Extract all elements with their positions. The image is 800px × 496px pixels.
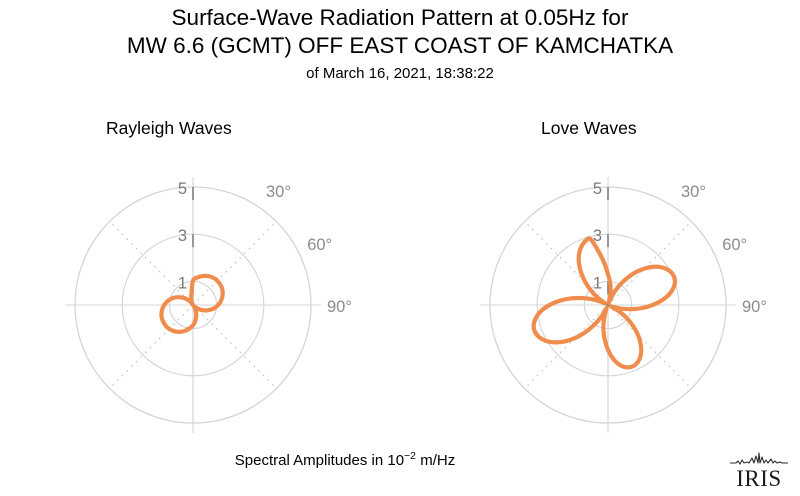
polar-spoke-45deg (608, 222, 691, 305)
theta-label-90deg: 90° (327, 298, 352, 316)
caption-exponent: −2 (404, 450, 416, 462)
theta-label-60deg: 60° (722, 236, 747, 254)
r-tick-label-5: 5 (178, 180, 187, 198)
theta-label-30deg: 30° (681, 183, 706, 201)
radiation-pattern-trace-rayleigh (161, 276, 222, 332)
polar-plot-love: 13530°60°90° (480, 177, 767, 433)
caption-prefix: Spectral Amplitudes in 10 (235, 452, 404, 469)
r-tick-label-5: 5 (593, 180, 602, 198)
iris-wordmark: IRIS (728, 466, 790, 491)
theta-label-30deg: 30° (266, 183, 291, 201)
r-tick-label-1: 1 (593, 274, 602, 292)
figure-root: Surface-Wave Radiation Pattern at 0.05Hz… (0, 0, 800, 496)
polar-plots-canvas: 13530°60°90°13530°60°90° (0, 0, 800, 496)
figure-caption: Spectral Amplitudes in 10−2 m/Hz (0, 452, 690, 469)
theta-label-60deg: 60° (307, 236, 332, 254)
polar-spoke-135deg (193, 305, 276, 388)
iris-logo: IRIS (728, 452, 790, 492)
r-tick-label-3: 3 (178, 227, 187, 245)
polar-spoke-225deg (110, 305, 193, 388)
caption-suffix: m/Hz (416, 452, 455, 469)
theta-label-90deg: 90° (742, 298, 767, 316)
polar-spoke-45deg (193, 222, 276, 305)
polar-plot-rayleigh: 13530°60°90° (65, 177, 352, 433)
polar-spoke-135deg (608, 305, 691, 388)
r-tick-label-1: 1 (178, 274, 187, 292)
